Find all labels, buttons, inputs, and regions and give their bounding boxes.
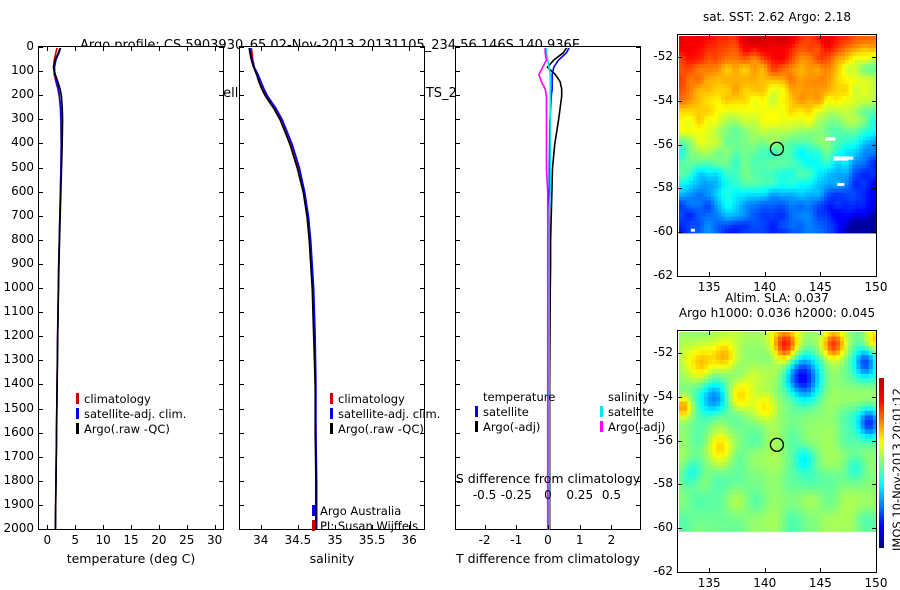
legend-row: climatology xyxy=(330,392,440,407)
depth-tick xyxy=(239,336,244,337)
depth-tick-label: 1200 xyxy=(0,328,34,342)
map-y-tick-right xyxy=(872,101,877,102)
depth-tick-right xyxy=(219,505,224,506)
depth-tick-right xyxy=(420,47,425,48)
depth-tick xyxy=(38,143,43,144)
depth-tick-right xyxy=(636,505,641,506)
map-x-tick xyxy=(709,272,710,277)
depth-tick xyxy=(239,288,244,289)
series-satellite-adj-clim- xyxy=(250,48,317,530)
depth-tick xyxy=(38,216,43,217)
legend-swatch-s-0 xyxy=(600,406,603,417)
map-x-tick-label: 140 xyxy=(740,576,790,590)
depth-tick xyxy=(455,529,460,530)
difference-legend-header-temperature: temperature xyxy=(483,390,555,405)
depth-tick-right xyxy=(219,336,224,337)
depth-tick xyxy=(38,457,43,458)
temperature-legend: climatologysatellite-adj. clim.Argo(.raw… xyxy=(76,392,186,437)
depth-tick xyxy=(239,143,244,144)
depth-tick-right xyxy=(420,360,425,361)
series-climatology xyxy=(251,48,316,530)
legend-row: satellite xyxy=(475,405,540,420)
depth-tick-right xyxy=(420,481,425,482)
depth-tick-right xyxy=(636,168,641,169)
temperature-axis-label: temperature (deg C) xyxy=(38,551,224,566)
x-tick-top xyxy=(215,46,216,51)
depth-tick xyxy=(239,71,244,72)
depth-tick-right xyxy=(420,95,425,96)
map-y-tick-label: -56 xyxy=(643,137,673,151)
difference-legend-col-temperature: satelliteArgo(-adj) xyxy=(475,405,540,435)
sst-raster xyxy=(679,36,877,277)
depth-tick xyxy=(239,481,244,482)
temperature-diff-tick xyxy=(611,525,612,530)
depth-tick xyxy=(455,71,460,72)
colorbar xyxy=(879,378,884,548)
depth-tick-right xyxy=(636,288,641,289)
panel-temperature-curves xyxy=(40,48,224,530)
map-y-tick xyxy=(677,276,682,277)
legend-swatch-s-1 xyxy=(600,421,603,432)
x-tick-top xyxy=(372,46,373,51)
depth-tick xyxy=(38,95,43,96)
depth-tick xyxy=(38,505,43,506)
x-tick-top xyxy=(187,46,188,51)
salinity-axis-label: salinity xyxy=(239,551,425,566)
depth-tick-right xyxy=(420,216,425,217)
legend-row: satellite xyxy=(600,405,665,420)
depth-tick-right xyxy=(219,264,224,265)
map-y-tick xyxy=(677,232,682,233)
map-y-tick-label: -54 xyxy=(643,93,673,107)
sst-map-title: sat. SST: 2.62 Argo: 2.18 xyxy=(617,10,900,25)
depth-tick xyxy=(239,529,244,530)
depth-tick xyxy=(239,168,244,169)
depth-tick-right xyxy=(420,143,425,144)
sla-map-frame[interactable] xyxy=(677,330,877,573)
depth-tick-right xyxy=(219,95,224,96)
depth-tick-right xyxy=(636,264,641,265)
map-x-tick xyxy=(820,272,821,277)
depth-tick-right xyxy=(420,529,425,530)
depth-tick xyxy=(239,192,244,193)
depth-tick-right xyxy=(636,529,641,530)
legend-swatch-1 xyxy=(330,408,333,419)
depth-tick-right xyxy=(420,264,425,265)
legend-label: Argo(.raw -QC) xyxy=(338,422,424,436)
series-salinity-argo-adj- xyxy=(539,48,548,530)
map-y-tick xyxy=(677,528,682,529)
map-y-tick-right xyxy=(872,188,877,189)
legend-label: climatology xyxy=(338,392,405,406)
depth-tick xyxy=(455,168,460,169)
map-x-tick xyxy=(709,568,710,573)
depth-tick xyxy=(455,360,460,361)
map-x-tick-top xyxy=(820,330,821,335)
depth-tick-label: 900 xyxy=(0,256,34,270)
depth-tick-label: 400 xyxy=(0,135,34,149)
map-y-tick-right xyxy=(872,57,877,58)
x-tick-label: 36 xyxy=(379,533,439,547)
salinity-difference-axis-label: S difference from climatology xyxy=(447,471,649,486)
depth-tick-right xyxy=(219,240,224,241)
depth-tick-label: 100 xyxy=(0,63,34,77)
depth-tick xyxy=(38,264,43,265)
map-y-tick-label: -56 xyxy=(643,433,673,447)
depth-tick-right xyxy=(219,312,224,313)
map-x-tick xyxy=(820,568,821,573)
depth-tick-right xyxy=(636,119,641,120)
depth-tick xyxy=(455,336,460,337)
depth-tick-label: 500 xyxy=(0,160,34,174)
legend-swatch-t-1 xyxy=(475,421,478,432)
legend-swatch-2 xyxy=(76,423,79,434)
map-y-tick-right xyxy=(872,276,877,277)
legend-row: Argo(-adj) xyxy=(475,420,540,435)
legend-swatch-1 xyxy=(76,408,79,419)
depth-tick-label: 600 xyxy=(0,184,34,198)
temperature-diff-tick-label: 2 xyxy=(581,533,641,547)
depth-tick xyxy=(38,71,43,72)
depth-tick xyxy=(239,95,244,96)
depth-tick-right xyxy=(219,409,224,410)
series-climatology xyxy=(54,48,62,530)
sst-map-frame[interactable] xyxy=(677,34,877,277)
map-y-tick-right xyxy=(872,397,877,398)
legend-row: Argo(.raw -QC) xyxy=(76,422,186,437)
legend-label: satellite xyxy=(483,405,529,419)
legend-label: satellite-adj. clim. xyxy=(338,407,440,421)
map-y-tick-right xyxy=(872,528,877,529)
map-y-tick-label: -60 xyxy=(643,224,673,238)
depth-tick xyxy=(38,433,43,434)
legend-row: satellite-adj. clim. xyxy=(330,407,440,422)
depth-tick xyxy=(38,312,43,313)
depth-tick-right xyxy=(219,288,224,289)
salinity-legend: climatologysatellite-adj. clim.Argo(.raw… xyxy=(330,392,440,437)
x-tick-top xyxy=(47,46,48,51)
map-y-tick-label: -54 xyxy=(643,389,673,403)
map-y-tick xyxy=(677,145,682,146)
depth-tick xyxy=(455,192,460,193)
x-tick xyxy=(261,525,262,530)
map-y-tick xyxy=(677,484,682,485)
map-y-tick-label: -58 xyxy=(643,476,673,490)
depth-tick xyxy=(38,119,43,120)
x-tick-top xyxy=(75,46,76,51)
depth-tick-right xyxy=(636,95,641,96)
depth-tick-right xyxy=(420,312,425,313)
depth-tick xyxy=(455,312,460,313)
depth-tick xyxy=(455,264,460,265)
depth-tick xyxy=(455,47,460,48)
depth-tick xyxy=(239,264,244,265)
depth-tick-right xyxy=(420,168,425,169)
credit-swatch-red xyxy=(312,520,315,531)
sla-raster xyxy=(679,332,877,573)
depth-tick-right xyxy=(219,360,224,361)
depth-tick-right xyxy=(636,71,641,72)
depth-tick-right xyxy=(636,216,641,217)
map-y-tick-label: -58 xyxy=(643,180,673,194)
depth-tick xyxy=(239,457,244,458)
map-x-tick-top xyxy=(709,34,710,39)
depth-tick xyxy=(239,47,244,48)
depth-tick-label: 800 xyxy=(0,232,34,246)
x-tick-top xyxy=(261,46,262,51)
map-y-tick-label: -62 xyxy=(643,268,673,282)
depth-tick xyxy=(239,312,244,313)
x-tick xyxy=(298,525,299,530)
legend-row: satellite-adj. clim. xyxy=(76,407,186,422)
depth-tick-right xyxy=(636,384,641,385)
depth-tick-right xyxy=(420,71,425,72)
depth-tick xyxy=(455,95,460,96)
salinity-diff-tick-label: 0.5 xyxy=(581,488,641,502)
depth-tick-right xyxy=(219,192,224,193)
depth-tick xyxy=(455,505,460,506)
depth-tick-right xyxy=(219,457,224,458)
depth-tick-label: 1300 xyxy=(0,352,34,366)
map-x-tick xyxy=(765,568,766,573)
depth-tick xyxy=(455,143,460,144)
x-tick-top xyxy=(159,46,160,51)
depth-tick-label: 1100 xyxy=(0,304,34,318)
legend-label: Argo(.raw -QC) xyxy=(84,422,170,436)
depth-tick xyxy=(455,433,460,434)
depth-tick-label: 1400 xyxy=(0,376,34,390)
depth-tick xyxy=(239,240,244,241)
depth-tick xyxy=(38,384,43,385)
x-tick xyxy=(103,525,104,530)
temperature-difference-axis-label: T difference from climatology xyxy=(447,551,649,566)
depth-tick-right xyxy=(636,47,641,48)
depth-tick xyxy=(38,240,43,241)
depth-tick-right xyxy=(636,336,641,337)
depth-tick xyxy=(38,529,43,530)
legend-swatch-t-0 xyxy=(475,406,478,417)
map-y-tick xyxy=(677,353,682,354)
depth-tick xyxy=(38,168,43,169)
map-x-tick-top xyxy=(765,34,766,39)
depth-tick-right xyxy=(219,71,224,72)
depth-tick-label: 1700 xyxy=(0,449,34,463)
map-y-tick-right xyxy=(872,484,877,485)
depth-tick-right xyxy=(636,143,641,144)
depth-tick-right xyxy=(219,384,224,385)
panel-difference-curves xyxy=(457,48,641,530)
depth-tick-right xyxy=(219,47,224,48)
depth-tick xyxy=(38,288,43,289)
depth-tick-label: 700 xyxy=(0,208,34,222)
credit-line-1: Argo Australia xyxy=(320,504,401,518)
x-tick-top xyxy=(409,46,410,51)
map-x-tick-label: 135 xyxy=(684,576,734,590)
depth-tick xyxy=(455,384,460,385)
depth-tick-right xyxy=(636,240,641,241)
depth-tick-right xyxy=(636,360,641,361)
map-x-tick-top xyxy=(820,34,821,39)
depth-tick-right xyxy=(219,168,224,169)
depth-tick-label: 1500 xyxy=(0,401,34,415)
credit-swatch-blue xyxy=(312,505,315,516)
credit-line-2: PI: Susan Wijffels xyxy=(320,519,418,533)
depth-tick-right xyxy=(420,457,425,458)
legend-swatch-2 xyxy=(330,423,333,434)
map-x-tick-top xyxy=(765,330,766,335)
temperature-diff-tick xyxy=(485,525,486,530)
temperature-diff-tick xyxy=(516,525,517,530)
depth-tick xyxy=(455,216,460,217)
depth-tick-right xyxy=(420,240,425,241)
map-x-tick-label: 150 xyxy=(851,576,900,590)
depth-tick xyxy=(239,360,244,361)
depth-tick-right xyxy=(636,457,641,458)
depth-tick-right xyxy=(636,192,641,193)
map-x-tick-label: 145 xyxy=(795,576,845,590)
x-tick xyxy=(75,525,76,530)
map-y-tick-right xyxy=(872,572,877,573)
depth-tick xyxy=(239,505,244,506)
legend-label: climatology xyxy=(84,392,151,406)
depth-tick-label: 1000 xyxy=(0,280,34,294)
map-x-tick-top xyxy=(876,34,877,39)
map-x-tick-top xyxy=(709,330,710,335)
panel-salinity-frame xyxy=(239,46,425,530)
map-y-tick xyxy=(677,101,682,102)
map-y-tick xyxy=(677,441,682,442)
depth-tick xyxy=(38,336,43,337)
depth-tick-right xyxy=(219,216,224,217)
difference-legend-col-salinity: satelliteArgo(-adj) xyxy=(600,405,665,435)
depth-tick-right xyxy=(219,119,224,120)
legend-swatch-0 xyxy=(330,393,333,404)
depth-tick-label: 300 xyxy=(0,111,34,125)
depth-tick-right xyxy=(219,433,224,434)
depth-tick xyxy=(38,409,43,410)
credit-row: PI: Susan Wijffels xyxy=(312,519,418,534)
map-x-tick-top xyxy=(876,330,877,335)
depth-tick xyxy=(239,216,244,217)
depth-tick xyxy=(38,192,43,193)
depth-tick-right xyxy=(219,143,224,144)
depth-tick xyxy=(239,409,244,410)
panel-difference-frame xyxy=(455,46,641,530)
depth-tick xyxy=(455,240,460,241)
depth-tick-right xyxy=(420,288,425,289)
x-tick-top xyxy=(103,46,104,51)
map-y-tick-label: -52 xyxy=(643,345,673,359)
depth-tick-right xyxy=(219,529,224,530)
map-y-tick-label: -52 xyxy=(643,49,673,63)
map-y-tick xyxy=(677,188,682,189)
argo-credit: Argo AustraliaPI: Susan Wijffels xyxy=(312,504,418,534)
imos-timestamp: IMOS 10-Nov-2013 20:01:12 xyxy=(890,388,900,551)
depth-tick-label: 200 xyxy=(0,87,34,101)
credit-row: Argo Australia xyxy=(312,504,418,519)
depth-tick xyxy=(239,384,244,385)
map-y-tick-right xyxy=(872,441,877,442)
map-y-tick xyxy=(677,572,682,573)
x-tick xyxy=(215,525,216,530)
sla-map-title-line-2: Argo h1000: 0.036 h2000: 0.045 xyxy=(617,306,900,321)
panel-temperature-frame xyxy=(38,46,224,530)
map-y-tick-right xyxy=(872,353,877,354)
depth-tick-right xyxy=(420,336,425,337)
depth-tick-right xyxy=(420,505,425,506)
map-y-tick xyxy=(677,57,682,58)
depth-tick xyxy=(38,360,43,361)
depth-tick xyxy=(239,119,244,120)
depth-tick-label: 1600 xyxy=(0,425,34,439)
depth-tick xyxy=(239,433,244,434)
legend-label: Argo(-adj) xyxy=(483,420,540,434)
x-tick xyxy=(159,525,160,530)
x-tick xyxy=(131,525,132,530)
depth-tick xyxy=(455,457,460,458)
depth-tick xyxy=(455,288,460,289)
x-tick-top xyxy=(335,46,336,51)
legend-label: satellite-adj. clim. xyxy=(84,407,186,421)
depth-tick-right xyxy=(420,119,425,120)
sla-map-title-line-1: Altim. SLA: 0.037 xyxy=(617,291,900,306)
legend-row: climatology xyxy=(76,392,186,407)
map-y-tick-label: -60 xyxy=(643,520,673,534)
depth-tick-label: 1900 xyxy=(0,497,34,511)
map-x-tick xyxy=(765,272,766,277)
x-tick xyxy=(187,525,188,530)
legend-row: Argo(.raw -QC) xyxy=(330,422,440,437)
depth-tick-right xyxy=(420,192,425,193)
map-y-tick-label: -62 xyxy=(643,564,673,578)
depth-tick xyxy=(455,409,460,410)
depth-tick xyxy=(38,481,43,482)
map-y-tick xyxy=(677,397,682,398)
panel-salinity-curves xyxy=(241,48,425,530)
depth-tick-label: 1800 xyxy=(0,473,34,487)
depth-tick-label: 0 xyxy=(0,39,34,53)
depth-tick-right xyxy=(420,384,425,385)
depth-tick xyxy=(38,47,43,48)
map-y-tick-right xyxy=(872,232,877,233)
temperature-diff-tick xyxy=(548,525,549,530)
depth-tick-right xyxy=(219,481,224,482)
legend-label: satellite xyxy=(608,405,654,419)
map-y-tick-right xyxy=(872,145,877,146)
temperature-diff-tick xyxy=(580,525,581,530)
x-tick-top xyxy=(298,46,299,51)
x-tick xyxy=(47,525,48,530)
depth-tick xyxy=(455,119,460,120)
x-tick-top xyxy=(131,46,132,51)
legend-swatch-0 xyxy=(76,393,79,404)
